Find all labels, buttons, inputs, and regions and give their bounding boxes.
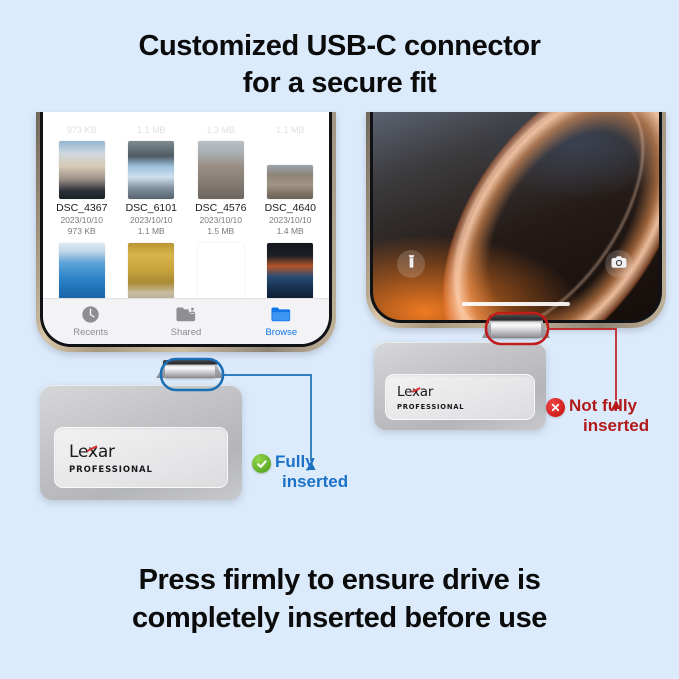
- callout-text-good: Fully inserted: [275, 452, 348, 492]
- phone-right-frame: [370, 112, 662, 323]
- folder-icon: [234, 305, 328, 325]
- status-badge-not-fully-inserted: Not fully inserted: [546, 396, 649, 436]
- file-size: 973 KB: [49, 125, 115, 137]
- file-item[interactable]: DSC_4576 2023/10/10 1.5 MB: [188, 139, 254, 237]
- file-cell[interactable]: 1.1 MB: [258, 112, 324, 137]
- file-thumbnail: [267, 165, 313, 199]
- file-date: 2023/10/10: [258, 215, 324, 226]
- phone-right-screen: [373, 112, 659, 320]
- file-grid-row-faded-top: 973 KB 1.1 MB 1.3 MB 1.1 MB: [43, 112, 329, 137]
- callout-line-2: inserted: [569, 416, 649, 436]
- callout-line-1: Not fully: [569, 396, 637, 415]
- file-grid-row-1: DSC_4367 2023/10/10 973 KB DSC_6101 2023…: [43, 139, 329, 237]
- file-thumbnail: [59, 141, 105, 199]
- file-date: 2023/10/10: [49, 215, 115, 226]
- file-size: 1.1 MB: [119, 125, 185, 137]
- lexar-ssd-right: Lexar PROFESSIONAL: [374, 342, 546, 430]
- lexar-ssd-left: Lexar PROFESSIONAL: [40, 385, 242, 500]
- lexar-branding: Lexar PROFESSIONAL: [69, 442, 153, 475]
- ssd-label-panel: Lexar PROFESSIONAL: [54, 427, 228, 488]
- flashlight-button[interactable]: [397, 250, 425, 278]
- file-name: DSC_4367: [49, 202, 115, 215]
- page-title: Customized USB-C connector for a secure …: [0, 28, 679, 101]
- file-thumbnail: [198, 141, 244, 199]
- sidebar-item-shared[interactable]: Shared: [139, 305, 233, 338]
- footer-line-2: completely inserted before use: [0, 600, 679, 638]
- file-thumbnail: [59, 243, 105, 301]
- leader-line-bad: [548, 329, 616, 400]
- sidebar-item-browse[interactable]: Browse: [234, 305, 328, 338]
- file-size: 1.3 MB: [188, 125, 254, 137]
- headline-line-1: Customized USB-C connector: [138, 30, 540, 62]
- file-cell[interactable]: 973 KB: [49, 112, 115, 137]
- file-size: 1.1 MB: [258, 125, 324, 137]
- x-circle-icon: [546, 398, 565, 417]
- headline-line-2: for a secure fit: [0, 65, 679, 102]
- flashlight-icon: [405, 254, 418, 274]
- camera-button[interactable]: [605, 250, 633, 278]
- phone-left-files-app: 973 KB 1.1 MB 1.3 MB 1.1 MB: [36, 112, 336, 352]
- check-circle-icon: [252, 454, 271, 473]
- lexar-wordmark: Lexar: [69, 442, 115, 462]
- callout-line-2: inserted: [275, 472, 348, 492]
- camera-icon: [611, 255, 627, 274]
- file-thumbnail: [267, 243, 313, 301]
- phone-right-lock-screen: [366, 112, 666, 328]
- file-date: 2023/10/10: [188, 215, 254, 226]
- tab-label: Recents: [43, 327, 137, 338]
- file-thumbnail: [128, 243, 174, 301]
- tab-label: Browse: [234, 327, 328, 338]
- file-size: 1.1 MB: [119, 226, 185, 237]
- shared-folder-icon: [139, 305, 233, 325]
- status-badge-fully-inserted: Fully inserted: [252, 452, 348, 492]
- lexar-wordmark: Lexar: [397, 384, 433, 400]
- file-cell[interactable]: 1.3 MB: [188, 112, 254, 137]
- file-name: DSC_4640: [258, 202, 324, 215]
- callout-text-bad: Not fully inserted: [569, 396, 649, 436]
- tab-label: Shared: [139, 327, 233, 338]
- files-tab-bar: Recents Shared: [43, 298, 329, 344]
- sidebar-item-recents[interactable]: Recents: [43, 305, 137, 338]
- file-thumbnail: [128, 141, 174, 199]
- usbc-connector-fully-inserted: [163, 360, 217, 378]
- lexar-subtitle: PROFESSIONAL: [397, 403, 464, 411]
- file-size: 1.4 MB: [258, 226, 324, 237]
- footer-line-1: Press firmly to ensure drive is: [139, 564, 541, 596]
- file-item[interactable]: DSC_4640 2023/10/10 1.4 MB: [258, 139, 324, 237]
- file-name: DSC_6101: [119, 202, 185, 215]
- home-indicator: [462, 302, 570, 306]
- file-cell[interactable]: 1.1 MB: [119, 112, 185, 137]
- clock-icon: [43, 305, 137, 325]
- file-thumbnail: [198, 243, 244, 301]
- file-date: 2023/10/10: [119, 215, 185, 226]
- usbc-connector-not-fully-inserted: [489, 315, 543, 338]
- lexar-branding: Lexar PROFESSIONAL: [397, 383, 464, 411]
- file-size: 1.5 MB: [188, 226, 254, 237]
- file-size: 973 KB: [49, 226, 115, 237]
- poster-canvas: Customized USB-C connector for a secure …: [0, 0, 679, 679]
- ssd-label-panel: Lexar PROFESSIONAL: [385, 374, 535, 420]
- phone-left-frame: 973 KB 1.1 MB 1.3 MB 1.1 MB: [40, 112, 332, 347]
- lexar-subtitle: PROFESSIONAL: [69, 465, 153, 475]
- phone-left-screen: 973 KB 1.1 MB 1.3 MB 1.1 MB: [43, 112, 329, 344]
- file-name: DSC_4576: [188, 202, 254, 215]
- file-item[interactable]: DSC_6101 2023/10/10 1.1 MB: [119, 139, 185, 237]
- page-footer-text: Press firmly to ensure drive is complete…: [0, 562, 679, 637]
- callout-line-1: Fully: [275, 452, 315, 471]
- file-item[interactable]: DSC_4367 2023/10/10 973 KB: [49, 139, 115, 237]
